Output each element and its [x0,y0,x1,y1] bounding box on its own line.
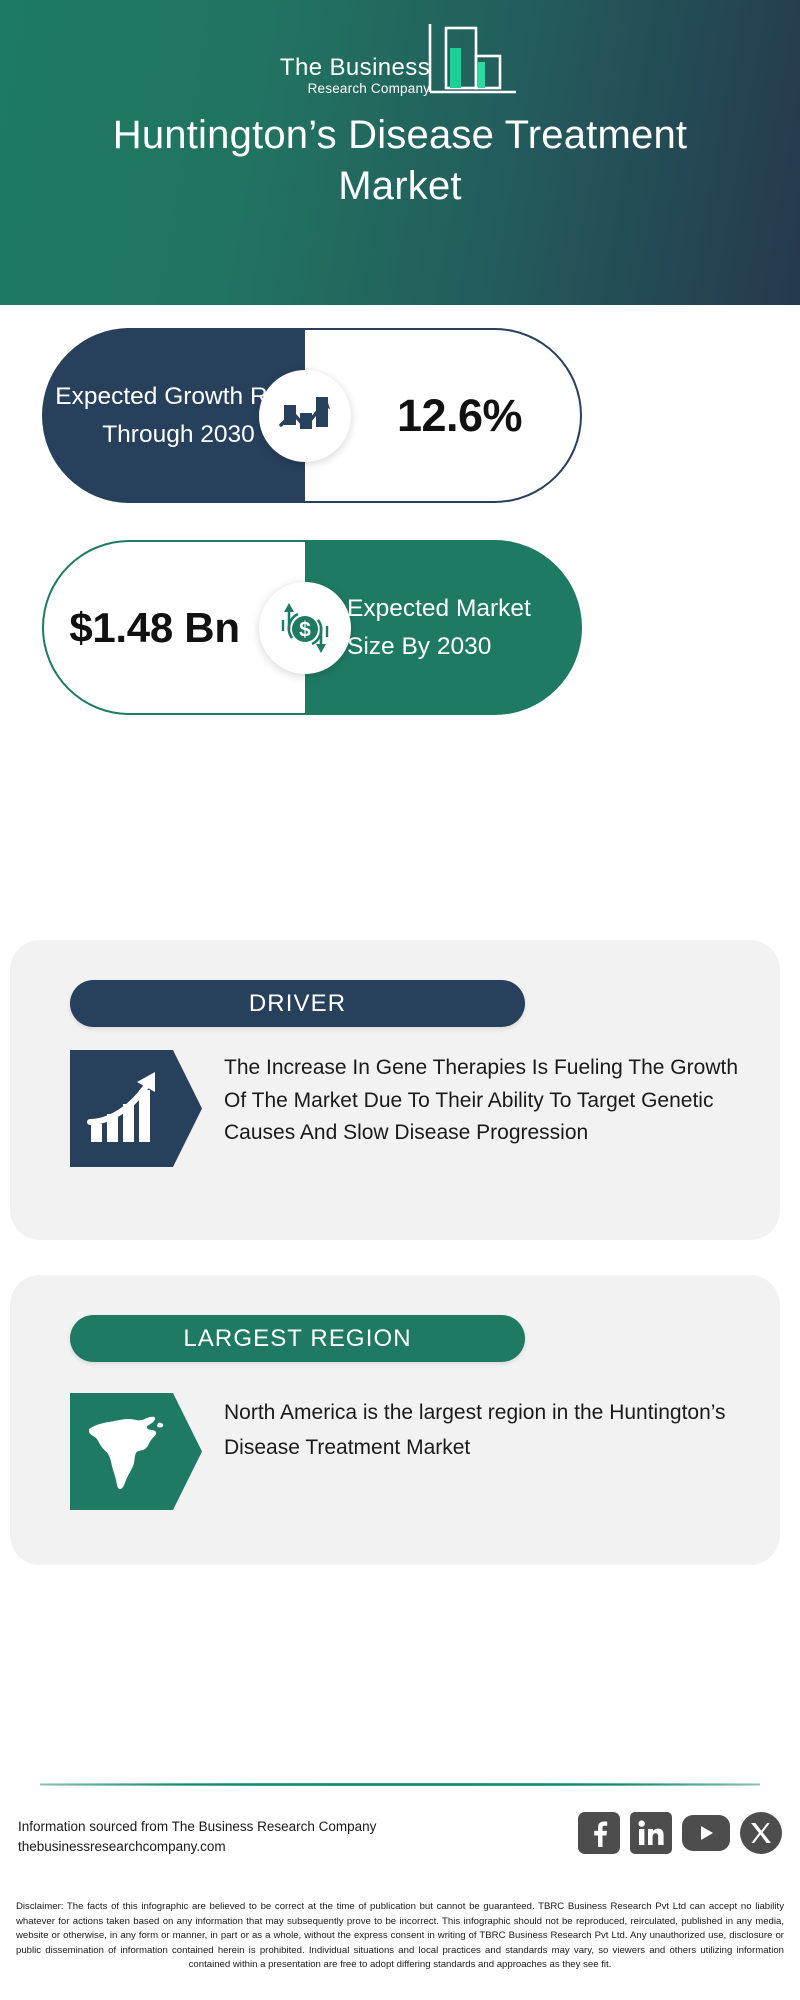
driver-pill-label: DRIVER [249,990,346,1018]
header-banner: The Business Research Company Huntington… [0,0,800,305]
footer-source-line-2[interactable]: thebusinessresearchcompany.com [18,1837,376,1857]
footer-source: Information sourced from The Business Re… [18,1817,376,1857]
region-body: North America is the largest region in t… [70,1393,760,1510]
page-title: Huntington’s Disease Treatment Market [0,110,800,212]
region-pill: LARGEST REGION [70,1315,525,1362]
stat-size-value: $1.48 Bn [69,605,279,651]
driver-text: The Increase In Gene Therapies Is Fuelin… [224,1050,760,1150]
x-twitter-icon[interactable] [740,1812,782,1854]
footer-source-line-1: Information sourced from The Business Re… [18,1817,376,1837]
linkedin-icon[interactable] [630,1812,672,1854]
stat-card-market-size: $1.48 Bn Expected Market Size By 2030 $ [42,540,582,715]
panel-largest-region: LARGEST REGION North America is the larg… [10,1275,780,1565]
north-america-map-icon [70,1393,202,1510]
panel-driver: DRIVER The Increase In Gene Therapies Is… [10,940,780,1240]
region-pill-label: LARGEST REGION [183,1325,411,1353]
driver-body: The Increase In Gene Therapies Is Fuelin… [70,1050,760,1167]
stat-card-growth-rate: Expected Growth Rate Through 2030 12.6% [42,328,582,503]
facebook-icon[interactable] [578,1812,620,1854]
logo-line-2: Research Company [308,81,431,97]
infographic-page: The Business Research Company Huntington… [0,0,800,2000]
logo-line-1: The Business [280,55,430,81]
region-text: North America is the largest region in t… [224,1393,760,1465]
rising-bar-chart-arrow-icon [70,1050,202,1167]
disclaimer-text: Disclaimer: The facts of this infographi… [16,1900,784,1973]
footer-divider [40,1783,760,1786]
youtube-icon[interactable] [682,1815,730,1851]
dollar-circulation-icon: $ [259,582,351,674]
company-logo: The Business Research Company [0,22,800,99]
driver-pill: DRIVER [70,980,525,1027]
svg-text:$: $ [299,619,311,642]
bar-chart-logo-mark [428,22,520,99]
growth-bar-chart-icon [259,370,351,462]
stat-growth-value: 12.6% [363,390,522,442]
logo-wordmark: The Business Research Company [280,55,430,99]
social-links [578,1812,782,1854]
